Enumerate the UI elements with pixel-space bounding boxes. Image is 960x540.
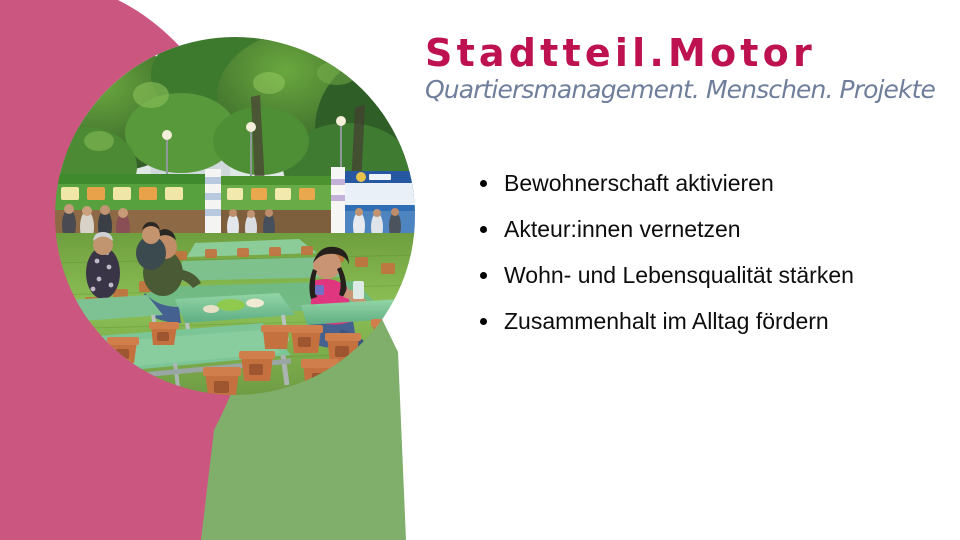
- list-item-label: Zusammenhalt im Alltag fördern: [504, 308, 829, 334]
- page-title: Stadtteil.Motor: [425, 34, 925, 74]
- content-column: Stadtteil.Motor Quartiersmanagement. Men…: [425, 0, 940, 540]
- bullet-dot-icon: [480, 226, 487, 233]
- bullet-dot-icon: [480, 318, 487, 325]
- list-item: Bewohnerschaft aktivieren: [452, 160, 932, 206]
- page-subtitle: Quartiersmanagement. Menschen. Projekte: [425, 76, 925, 104]
- festival-photo-illustration: [55, 37, 415, 395]
- list-item: Akteur:innen vernetzen: [452, 206, 932, 252]
- list-item: Wohn- und Lebensqualität stärken: [452, 252, 932, 298]
- list-item-label: Wohn- und Lebensqualität stärken: [504, 262, 854, 288]
- list-item-label: Akteur:innen vernetzen: [504, 216, 741, 242]
- bullet-dot-icon: [480, 180, 487, 187]
- list-item-label: Bewohnerschaft aktivieren: [504, 170, 774, 196]
- slide-canvas: Stadtteil.Motor Quartiersmanagement. Men…: [0, 0, 960, 540]
- festival-photo: [55, 37, 415, 395]
- bullet-dot-icon: [480, 272, 487, 279]
- list-item: Zusammenhalt im Alltag fördern: [452, 298, 932, 344]
- brand-heading-block: Stadtteil.Motor Quartiersmanagement. Men…: [425, 34, 925, 104]
- goals-bullet-list: Bewohnerschaft aktivieren Akteur:innen v…: [452, 160, 932, 344]
